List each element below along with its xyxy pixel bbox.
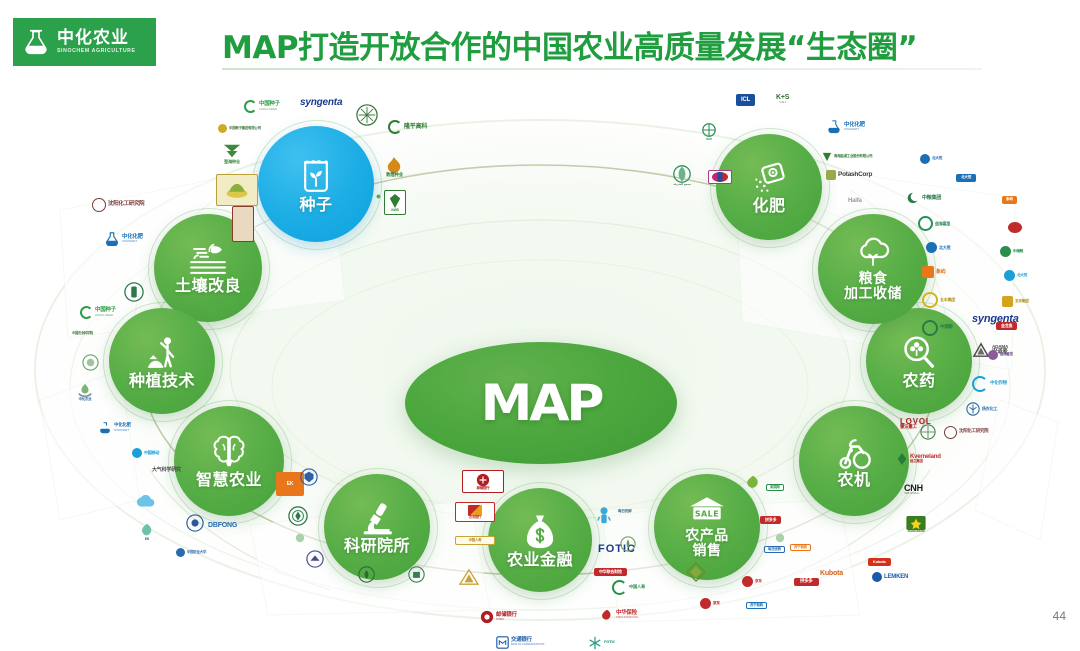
partner-logo: 农业银行 (455, 502, 495, 522)
logo-text: 每日优鲜 (768, 548, 781, 551)
partner-logo: 沈阳化工研究院 (92, 198, 144, 212)
logo-text: 苏宁易购 (750, 604, 763, 607)
partner-logo: 中化农业 (76, 382, 94, 401)
node-grain[interactable]: 粮食 加工收储 (818, 214, 928, 324)
flask-icon (21, 27, 51, 57)
map-core-label: MAP (481, 374, 602, 432)
partner-logo (708, 170, 732, 184)
logo-text: 中储粮 (940, 326, 953, 330)
bayer-cross-icon (356, 104, 378, 126)
logo-text: ICL (741, 97, 750, 103)
node-finance-label: 农业金融 (507, 552, 573, 568)
node-sales-label-line1: 农产品 (685, 529, 729, 544)
logo-sub: KALI (779, 101, 786, 104)
flame-icon (386, 156, 402, 174)
gear-seal-icon (186, 514, 204, 532)
partner-logo: مجمع الشريف (672, 164, 692, 187)
partner-logo: 沈阳化工研究院 (944, 426, 988, 439)
ecosystem-diagram: MAP 种子 土壤改良 (0, 70, 1080, 630)
logo-text: EK (287, 482, 294, 487)
node-smart-label: 智慧农业 (196, 472, 262, 488)
magnifier-leaf-icon (900, 333, 938, 371)
node-planting[interactable]: 种植技术 (109, 308, 215, 414)
partner-logo (356, 104, 378, 126)
leaf-icon (744, 474, 762, 490)
money-bag-icon (522, 512, 558, 550)
chinainsurance-mark-icon (600, 608, 614, 622)
partner-logo: 中国农业科学院 (72, 332, 93, 335)
logo-text: 京东 (755, 580, 762, 584)
partner-logo: 登海种业 (222, 142, 242, 164)
mascot-icon (596, 506, 612, 528)
partner-logo (1008, 222, 1022, 233)
partner-logo: 中储粮 (1000, 246, 1023, 257)
partner-logo: ICL (736, 94, 755, 106)
logo-sub: 格兰集团 (910, 460, 923, 464)
node-sales-label-line2: 销售 (693, 544, 722, 559)
partner-logo: 益海嘉里 (918, 216, 950, 231)
partner-logo (232, 206, 254, 242)
partner-logo: LEMKEN (872, 572, 908, 582)
partner-logo (620, 536, 636, 552)
logo-text: 中国农业科学院 (72, 332, 93, 335)
university-seal-icon (306, 550, 324, 568)
logo-text: 象屿 (1006, 198, 1013, 202)
logo-sub: SINOFERT (114, 429, 129, 432)
partner-logo: 隆平高科 (388, 120, 427, 134)
brain-icon (209, 434, 249, 470)
logo-text: DBFONG (208, 522, 237, 529)
logo-sub: SINOFERT (844, 128, 859, 131)
partner-logo (458, 568, 480, 586)
partner-logo: Kverneland 格兰集团 (896, 452, 941, 466)
partner-logo: JOHN DEERE (906, 516, 926, 533)
partner-logo: 北大荒 (926, 242, 950, 253)
logo-sub: PSBC (496, 618, 504, 621)
logo-text: 中国种子集团有限公司 (229, 127, 261, 130)
logo-text: 沈阳化工研究院 (108, 202, 144, 207)
salt-lake-mark-icon (822, 152, 832, 162)
logo-text: 沈阳化工研究院 (959, 430, 988, 434)
logo-text: 扬农化工 (982, 407, 997, 411)
partner-logo (82, 354, 99, 371)
partner-logo (744, 474, 762, 490)
logo-text: 拼多多 (800, 580, 813, 584)
node-smart[interactable]: 智慧农业 (174, 406, 284, 516)
grain-cloud-icon (854, 236, 892, 270)
institute-seal-icon (124, 282, 144, 302)
partner-logo: EK (138, 522, 156, 541)
partner-logo: 扬农化工 (966, 402, 997, 416)
seed-packet-icon (296, 155, 336, 195)
logo-text: 农业银行 (469, 516, 481, 519)
partner-logo: CNH INDUSTRIAL (904, 484, 923, 496)
psbc-mark-icon (476, 473, 490, 487)
partner-logo: 益海嘉里 (988, 350, 1013, 360)
snowflake-mark-icon (588, 636, 602, 650)
logo-text: 大气科学研究 (152, 468, 181, 473)
partner-logo: DBFONG (208, 522, 237, 529)
partner-logo: 五丰集团 (922, 292, 955, 308)
brand-logo: 中化农业 SINOCHEM AGRICULTURE (13, 18, 156, 66)
bayer-cross-icon (920, 424, 936, 440)
partner-logo: 北大荒 (920, 154, 942, 164)
cloud-icon (134, 494, 156, 510)
fertilizer-bag-icon (750, 160, 788, 196)
partner-logo: 每日优鲜 (618, 510, 632, 514)
node-fertilizer[interactable]: 化肥 (716, 134, 822, 240)
logo-text: 苏宁易购 (794, 546, 807, 549)
ocp-mark-icon (700, 122, 718, 138)
partner-logo: 中化化肥 SINOFERT (98, 422, 131, 434)
logo-text: 象屿 (936, 270, 946, 275)
logo-text: 拼多多 (765, 518, 776, 522)
logo-text: 金龙鱼 (1001, 324, 1012, 328)
partner-logo (300, 468, 318, 486)
partner-logo: 象屿 (922, 266, 946, 278)
map-core[interactable]: MAP (405, 342, 677, 464)
logo-text: 敦煌种业 (386, 174, 403, 178)
logo-text: 中国人寿 (469, 539, 482, 542)
partner-logo: FOTIC (588, 636, 615, 650)
partner-logo: 中国种子集团有限公司 (218, 124, 261, 133)
partner-logo (216, 174, 258, 206)
partner-logo: 苏宁易购 (790, 544, 811, 551)
partner-logo: KWS (384, 190, 406, 215)
logo-text: Kubota (820, 570, 843, 577)
leaf-network-icon (138, 522, 156, 538)
logo-text: EK (145, 538, 149, 541)
partner-logo: 拼多多 (760, 516, 781, 524)
microscope-icon (357, 500, 397, 536)
logo-sub: CHINA INSURANCE (616, 617, 638, 620)
farmer-icon (143, 333, 181, 371)
node-seed-label: 种子 (299, 197, 332, 213)
node-machinery-label: 农机 (837, 472, 870, 488)
logo-text: 登海种业 (224, 160, 240, 164)
sale-tag-icon: SALE (687, 495, 727, 527)
logo-text: 美菜网 (770, 486, 780, 489)
partner-logo: 中储粮 (922, 320, 953, 336)
svg-text:SALE: SALE (695, 510, 719, 519)
logo-sub: CHINA SEED (95, 314, 113, 317)
partner-logo: 苏宁易购 (746, 602, 767, 609)
partner-logo: K+S KALI (776, 94, 789, 104)
partner-logo: 拼多多 (794, 578, 819, 586)
slide-canvas: 中化农业 SINOCHEM AGRICULTURE MAP打造开放合作的中国农业… (0, 0, 1080, 651)
partner-logo: PotashCorp (826, 170, 872, 180)
logo-text: Haifa (848, 198, 862, 204)
logo-text: 中粮集团 (922, 196, 941, 201)
partner-logo (686, 562, 706, 582)
logo-text: FOTIC (604, 641, 615, 645)
logo-text: 北大荒 (939, 246, 950, 250)
diamond-logo-icon (686, 562, 706, 582)
logo-text: 中华联合财险 (599, 570, 622, 574)
hand-plant-icon (76, 382, 94, 398)
partner-logo (288, 506, 308, 526)
logo-text: 北大荒 (932, 157, 942, 161)
logo-text: 五丰集团 (1015, 300, 1029, 304)
logo-sub: SINOFERT (122, 240, 137, 243)
partner-logo: Kubota (868, 558, 891, 566)
partner-logo: 中国种子 CHINA SEED (80, 306, 116, 319)
partner-logo: 敦煌种业 (386, 156, 403, 178)
partner-logo (134, 494, 156, 510)
partner-logo: 邮储银行 PSBC (480, 610, 517, 624)
partner-logo: 中国农业大学 (176, 548, 206, 557)
partner-logo (124, 282, 144, 302)
logo-sub: 雷沃重工 (900, 426, 917, 430)
partner-logo: 中粮集团 (906, 192, 941, 204)
partner-logo: 北大荒 (956, 174, 976, 182)
logo-sub: BANK OF COMMUNICATIONS (511, 644, 544, 647)
logo-text: Kubota (873, 560, 886, 564)
node-machinery[interactable]: 农机 (799, 406, 909, 516)
logo-text: JOHN DEERE (907, 530, 925, 533)
university-seal-icon (408, 566, 425, 583)
partner-logo: 中国移动 (132, 448, 159, 458)
partner-logo: 中化作物 (972, 376, 1007, 392)
partner-logo: 中国人寿 (612, 580, 645, 595)
partner-logo: 中华联合财险 (594, 568, 627, 576)
kverneland-mark-icon (896, 452, 908, 466)
partner-logo: 北大荒 (1004, 270, 1027, 281)
logo-text: 北大荒 (1017, 274, 1027, 278)
university-seal-icon (358, 566, 375, 583)
seal-icon (82, 354, 99, 371)
ocp-arabic-mark-icon (672, 164, 692, 184)
partner-logo: 交通银行 BANK OF COMMUNICATIONS (496, 636, 544, 649)
partner-logo: 大气科学研究 (152, 468, 181, 473)
partner-logo (186, 514, 204, 532)
logo-text: 北大荒 (961, 176, 971, 180)
logo-text: LEMKEN (884, 574, 908, 580)
partner-logo: 中华保险 CHINA INSURANCE (600, 608, 638, 622)
logo-text: 五丰集团 (940, 298, 955, 302)
partner-logo (920, 424, 936, 440)
node-planting-label: 种植技术 (129, 373, 195, 389)
partner-logo: 每日优鲜 (764, 546, 785, 553)
node-research[interactable]: 科研院所 (324, 474, 430, 580)
logo-text: 益海嘉里 (935, 222, 950, 226)
university-seal-icon (300, 468, 318, 486)
partner-logo (596, 506, 612, 528)
partner-logo: 金龙鱼 (996, 322, 1017, 330)
node-research-label: 科研院所 (344, 538, 410, 554)
logo-text: 京东 (713, 602, 720, 606)
logo-text: 中国人寿 (629, 585, 645, 589)
soil-layers-icon (188, 242, 228, 276)
pyramid-logo-icon (458, 568, 480, 586)
logo-text: 中国农业大学 (187, 551, 206, 554)
partner-logo: 五丰集团 (1002, 296, 1029, 307)
logo-text: PotashCorp (838, 172, 872, 178)
partner-logo: 青海盐湖工业股份有限公司 (822, 152, 872, 162)
logo-text: 隆平高科 (404, 124, 427, 130)
node-grain-label-line2: 加工收储 (844, 287, 902, 302)
logo-text: 益海嘉里 (1000, 353, 1013, 356)
partner-logo: OCP (700, 122, 718, 141)
partner-logo: Haifa (848, 198, 862, 204)
john-deere-deer-icon (906, 516, 926, 530)
partner-logo: Kubota (820, 570, 843, 577)
sinofert-mark-icon (98, 422, 112, 434)
partner-logo: 美菜网 (766, 484, 784, 491)
bocom-mark-icon (496, 636, 509, 649)
page-title: MAP打造开放合作的中国农业高质量发展“生态圈” (222, 22, 917, 67)
node-finance[interactable]: 农业金融 (488, 488, 592, 592)
crop-illustration-icon (224, 181, 250, 199)
partner-logo: 中国人寿 (455, 536, 495, 545)
v-leaf-icon (222, 142, 242, 160)
node-pesticide-label: 农药 (902, 373, 935, 389)
partner-logo (306, 550, 324, 568)
partner-logo (358, 566, 375, 583)
node-soil-label: 土壤改良 (175, 278, 241, 294)
logo-text: 中储粮 (1013, 250, 1023, 254)
university-seal-icon (288, 506, 308, 526)
yangnong-mark-icon (966, 402, 980, 416)
brand-name-cn: 中化农业 (57, 29, 136, 46)
partner-logo: 中化化肥 SINOFERT (826, 120, 865, 134)
node-pesticide[interactable]: 农药 (866, 308, 972, 414)
node-grain-label-line1: 粮食 (859, 272, 888, 287)
logo-text: 每日优鲜 (618, 510, 632, 514)
tractor-icon (834, 434, 874, 470)
logo-text: 邮储银行 (477, 487, 490, 490)
partner-logo: 象屿 (1002, 196, 1017, 204)
logo-text: 中化作物 (990, 382, 1007, 386)
partner-logo (408, 566, 425, 583)
partner-logo: 中国种子 CHINA SEED (244, 100, 280, 113)
partner-logo: 京东 (700, 598, 720, 609)
cofco-mark-icon (906, 192, 920, 204)
psbc-mark-icon (480, 610, 494, 624)
sinofert-mark-icon (104, 232, 120, 246)
logo-text: OCP (706, 138, 712, 141)
logo-text: 中国移动 (144, 451, 159, 455)
brand-name-en: SINOCHEM AGRICULTURE (57, 49, 136, 54)
sinofert-mark-icon (826, 120, 842, 134)
logo-text: 中化农业 (79, 398, 92, 401)
seal-icon (620, 536, 636, 552)
logo-text: 青海盐湖工业股份有限公司 (834, 155, 872, 158)
node-fertilizer-label: 化肥 (752, 198, 785, 214)
logo-sub: CHINA SEED (259, 108, 277, 111)
partner-logo: 京东 (742, 576, 762, 587)
logo-text: KWS (391, 209, 398, 212)
logo-sub: INDUSTRIAL (904, 493, 919, 496)
partner-logo: 邮储银行 (462, 470, 504, 493)
logo-text: syngenta (300, 98, 342, 108)
partner-logo: syngenta (300, 98, 342, 108)
kws-mark-icon (388, 193, 402, 209)
partner-logo: 中化化肥 SINOFERT (104, 232, 143, 246)
node-seed[interactable]: 种子 (258, 126, 374, 242)
